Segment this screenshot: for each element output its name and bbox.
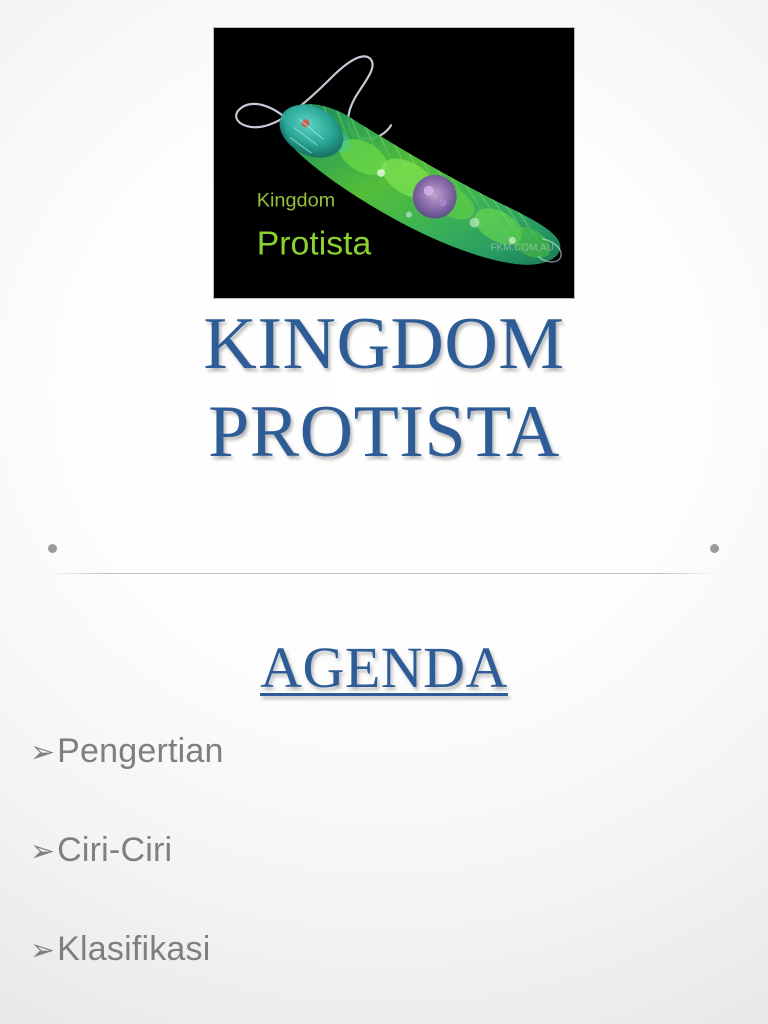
cover-caption-top: Kingdom bbox=[257, 190, 335, 212]
list-item: ➢ Pengertian bbox=[30, 732, 730, 831]
agenda-item-label: Klasifikasi bbox=[57, 930, 210, 969]
slide-agenda: AGENDA ➢ Pengertian ➢ Ciri-Ciri ➢ Klasif… bbox=[0, 574, 768, 1024]
page-title: KINGDOM PROTISTA bbox=[0, 300, 768, 476]
slide-title: Kingdom Protista FKM.COM.AU KINGDOM PROT… bbox=[0, 0, 768, 574]
agenda-list: ➢ Pengertian ➢ Ciri-Ciri ➢ Klasifikasi bbox=[30, 732, 730, 1024]
presentation-deck: Kingdom Protista FKM.COM.AU KINGDOM PROT… bbox=[0, 0, 768, 1024]
agenda-heading-wrap: AGENDA bbox=[0, 636, 768, 700]
arrow-bullet-icon: ➢ bbox=[30, 837, 55, 867]
title-line-2: PROTISTA bbox=[0, 388, 768, 476]
agenda-item-label: Ciri-Ciri bbox=[57, 831, 172, 870]
slide-boundary-dot-right bbox=[710, 544, 719, 553]
cover-caption-bottom: Protista bbox=[257, 224, 372, 262]
agenda-item-label: Pengertian bbox=[57, 732, 223, 771]
agenda-heading: AGENDA bbox=[260, 636, 508, 700]
list-item: ➢ Ciri-Ciri bbox=[30, 831, 730, 930]
arrow-bullet-icon: ➢ bbox=[30, 936, 55, 966]
list-item: ➢ Klasifikasi bbox=[30, 930, 730, 1024]
cover-watermark: FKM.COM.AU bbox=[490, 242, 553, 253]
cover-image: Kingdom Protista FKM.COM.AU bbox=[213, 27, 575, 299]
slide-boundary-dot-left bbox=[48, 544, 57, 553]
arrow-bullet-icon: ➢ bbox=[30, 738, 55, 768]
title-line-1: KINGDOM bbox=[0, 300, 768, 388]
euglena-illustration: Kingdom Protista FKM.COM.AU bbox=[214, 28, 574, 298]
